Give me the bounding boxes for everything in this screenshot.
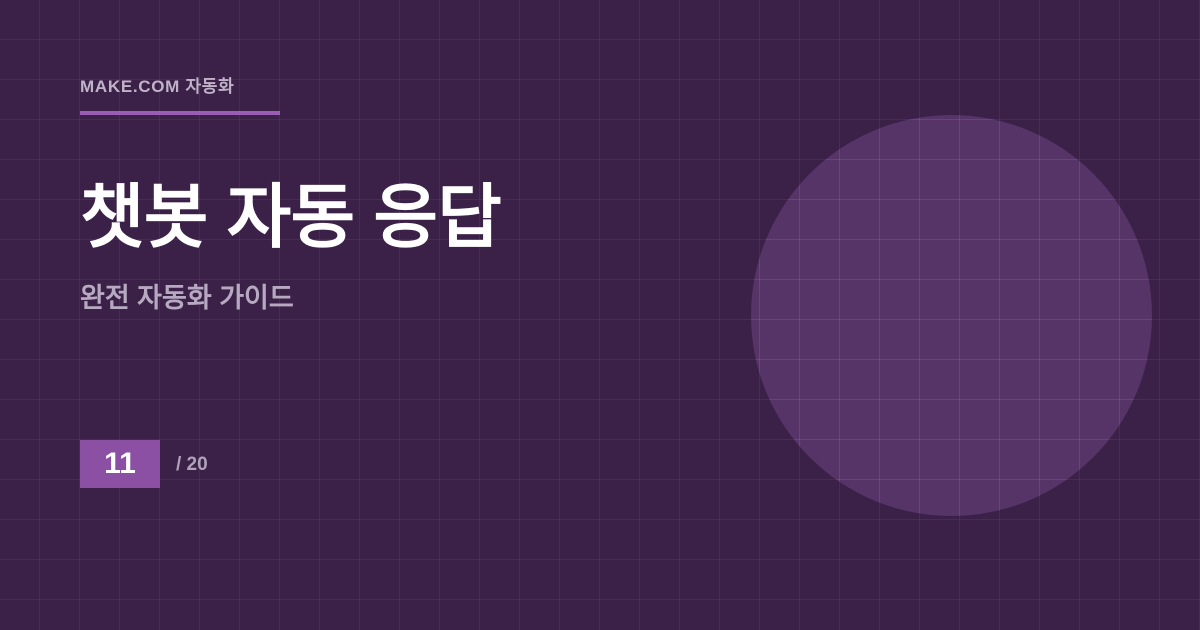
page-title: 챗봇 자동 응답 bbox=[80, 178, 501, 258]
brand-underline-rule bbox=[80, 111, 280, 115]
brand-eyebrow-label: MAKE.COM 자동화 bbox=[80, 78, 280, 95]
brand-eyebrow-block: MAKE.COM 자동화 bbox=[80, 78, 280, 115]
slide-content: MAKE.COM 자동화 챗봇 자동 응답 완전 자동화 가이드 11 / 20 bbox=[80, 0, 780, 630]
page-subtitle: 완전 자동화 가이드 bbox=[80, 282, 294, 314]
page-number-badge: 11 bbox=[80, 440, 160, 488]
page-total-label: / 20 bbox=[176, 455, 208, 474]
presentation-slide: MAKE.COM 자동화 챗봇 자동 응답 완전 자동화 가이드 11 / 20 bbox=[0, 0, 1200, 630]
decorative-circle bbox=[751, 115, 1152, 516]
page-indicator: 11 / 20 bbox=[80, 440, 208, 488]
